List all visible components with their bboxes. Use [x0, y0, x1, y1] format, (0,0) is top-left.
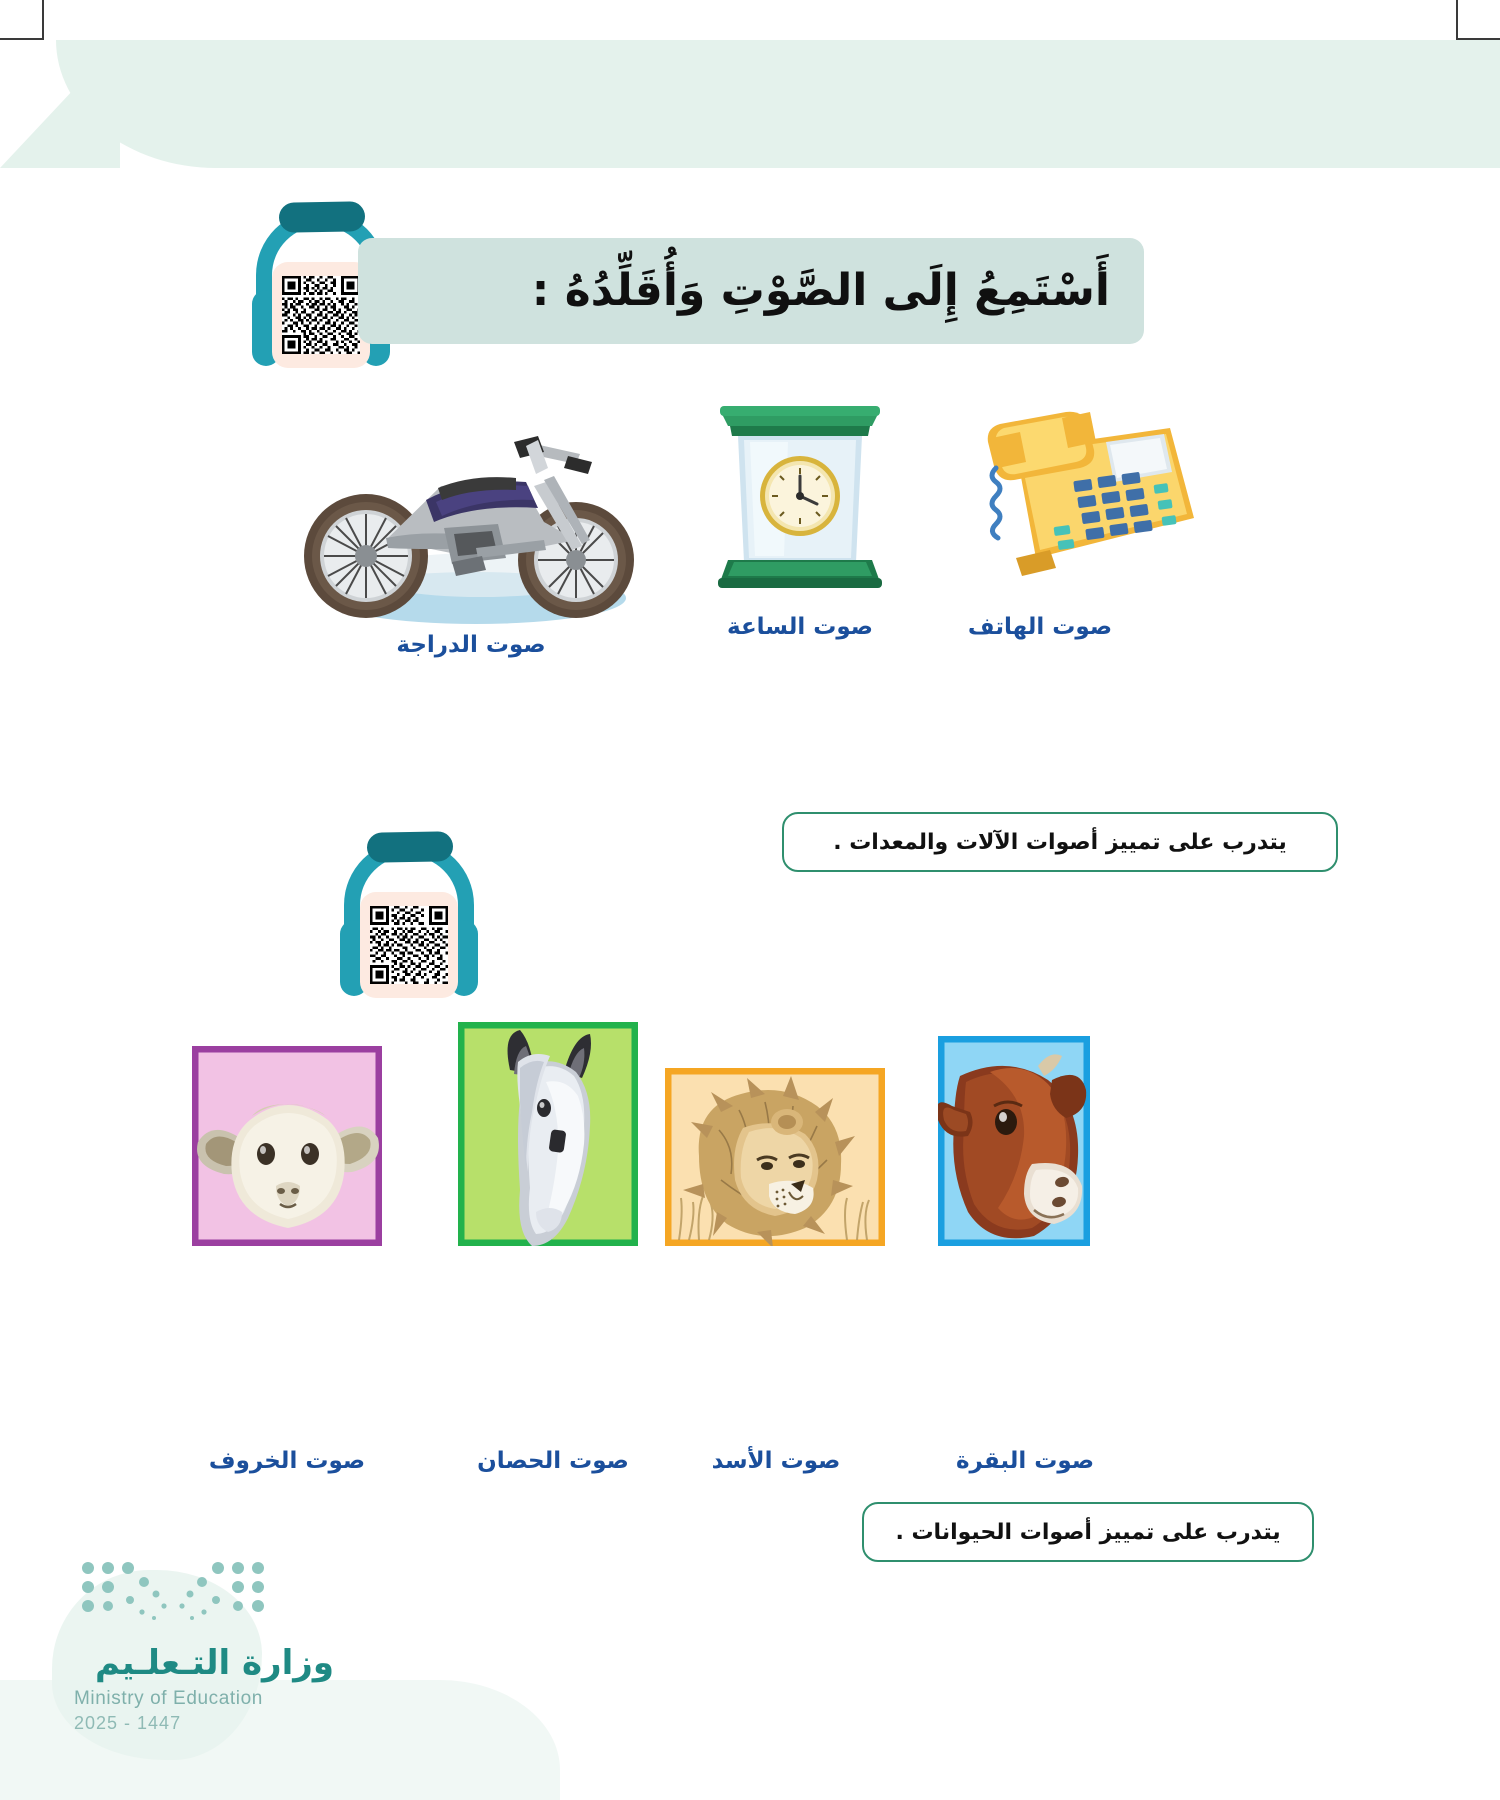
qr-code-plate-animals[interactable] — [360, 892, 458, 998]
note-text-machines: يتدرب على تمييز أصوات الآلات والمعدات . — [833, 830, 1287, 855]
headphone-headband-icon — [367, 831, 454, 862]
caption-cow: صوت البقرة — [925, 1448, 1125, 1474]
crop-mark-top-right-vertical — [1456, 0, 1458, 38]
telephone-icon — [958, 398, 1198, 588]
logo-year-text: 2025 - 1447 — [74, 1713, 334, 1734]
clock-icon — [710, 392, 890, 604]
caption-lion: صوت الأسد — [668, 1448, 884, 1474]
crop-mark-top-left-vertical — [42, 0, 44, 38]
horse-icon — [458, 1022, 638, 1246]
sheep-icon — [192, 1046, 382, 1246]
audio-qr-badge-animals[interactable] — [330, 836, 488, 1002]
page-title: أَسْتَمِعُ إِلَى الصَّوْتِ وَأُقَلِّدُهُ… — [532, 265, 1110, 318]
caption-clock: صوت الساعة — [660, 614, 940, 640]
qr-code-plate-machines[interactable] — [272, 262, 370, 368]
ministry-dots-pattern-icon — [78, 1560, 268, 1624]
caption-sheep: صوت الخروف — [177, 1448, 397, 1474]
caption-motorcycle: صوت الدراجة — [276, 632, 666, 658]
crop-mark-top-left-horizontal — [0, 38, 44, 40]
logo-english-text: Ministry of Education — [74, 1688, 334, 1710]
page-header-band — [56, 40, 1500, 168]
headphone-headband-icon — [279, 201, 366, 232]
logo-arabic-text: وزارة التـعلـيم — [74, 1646, 334, 1680]
note-box-machines: يتدرب على تمييز أصوات الآلات والمعدات . — [782, 812, 1338, 872]
section-title-banner: أَسْتَمِعُ إِلَى الصَّوْتِ وَأُقَلِّدُهُ… — [358, 238, 1144, 344]
note-text-animals: يتدرب على تمييز أصوات الحيوانات . — [895, 1520, 1280, 1545]
cow-icon — [938, 1036, 1090, 1246]
caption-telephone: صوت الهاتف — [900, 614, 1180, 640]
qr-code-icon[interactable] — [370, 906, 448, 984]
ministry-of-education-logo: وزارة التـعلـيم Ministry of Education 20… — [74, 1646, 334, 1734]
document-page: أَسْتَمِعُ إِلَى الصَّوْتِ وَأُقَلِّدُهُ… — [0, 0, 1500, 1800]
caption-horse: صوت الحصان — [448, 1448, 658, 1474]
lion-icon — [665, 1068, 885, 1246]
note-box-animals: يتدرب على تمييز أصوات الحيوانات . — [862, 1502, 1314, 1562]
qr-code-icon[interactable] — [282, 276, 360, 354]
motorcycle-icon — [276, 390, 666, 630]
